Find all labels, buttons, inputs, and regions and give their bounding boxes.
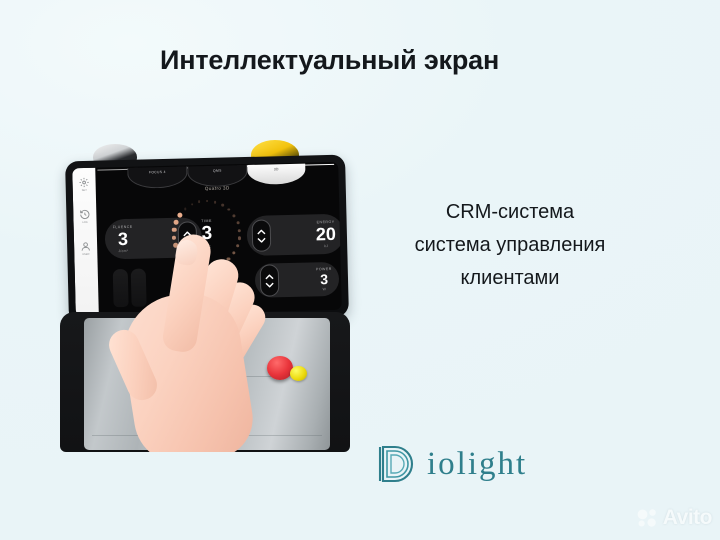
- product-photo: SET LOG USER: [46, 140, 362, 452]
- yellow-button-right[interactable]: [290, 366, 307, 381]
- tab-focus-label: FOCUS 4: [149, 169, 166, 173]
- tab-qms[interactable]: QMS: [187, 165, 247, 187]
- timer-dot: [214, 201, 217, 204]
- feature-line-2: система управления: [352, 229, 668, 262]
- history-icon[interactable]: LOG: [77, 208, 92, 225]
- timer-dot: [177, 212, 182, 217]
- avito-watermark: Avito: [637, 506, 712, 530]
- brand-logo: iolight: [376, 443, 527, 485]
- timer-dot: [233, 214, 236, 217]
- feature-line-3: клиентами: [352, 262, 668, 295]
- timer-dot: [236, 221, 239, 224]
- tab-3d-label: 3D: [274, 167, 279, 171]
- timer-dot: [184, 208, 186, 210]
- hand-illustration: [106, 232, 286, 452]
- feature-description: CRM-система система управления клиентами: [352, 196, 668, 295]
- timer-dot: [174, 220, 179, 225]
- timer-dot: [221, 204, 224, 207]
- history-icon-label: LOG: [82, 221, 88, 224]
- page-title: Интеллектуальный экран: [160, 45, 499, 76]
- energy-unit: kJ: [324, 244, 328, 249]
- power-value: 3: [320, 272, 328, 287]
- slide-canvas: Интеллектуальный экран CRM-система систе…: [0, 0, 720, 540]
- settings-icon[interactable]: SET: [76, 176, 91, 193]
- settings-icon-label: SET: [82, 189, 87, 192]
- power-value-group: POWER 3 W: [316, 266, 332, 291]
- energy-value-group: ENERGY 20 kJ: [316, 219, 337, 248]
- brand-logo-text: iolight: [427, 446, 527, 483]
- tab-3d[interactable]: 3D: [247, 164, 305, 185]
- avito-dots-icon: [637, 508, 659, 528]
- tab-qms-label: QMS: [213, 168, 222, 172]
- avito-wordmark: Avito: [663, 506, 712, 530]
- user-icon-label: USER: [82, 253, 89, 256]
- user-icon[interactable]: USER: [78, 240, 93, 257]
- power-unit: W: [323, 287, 327, 292]
- feature-line-1: CRM-система: [352, 196, 668, 229]
- diolight-d-mark-icon: [376, 443, 416, 485]
- energy-value: 20: [316, 224, 336, 243]
- tab-focus[interactable]: FOCUS 4: [127, 166, 187, 188]
